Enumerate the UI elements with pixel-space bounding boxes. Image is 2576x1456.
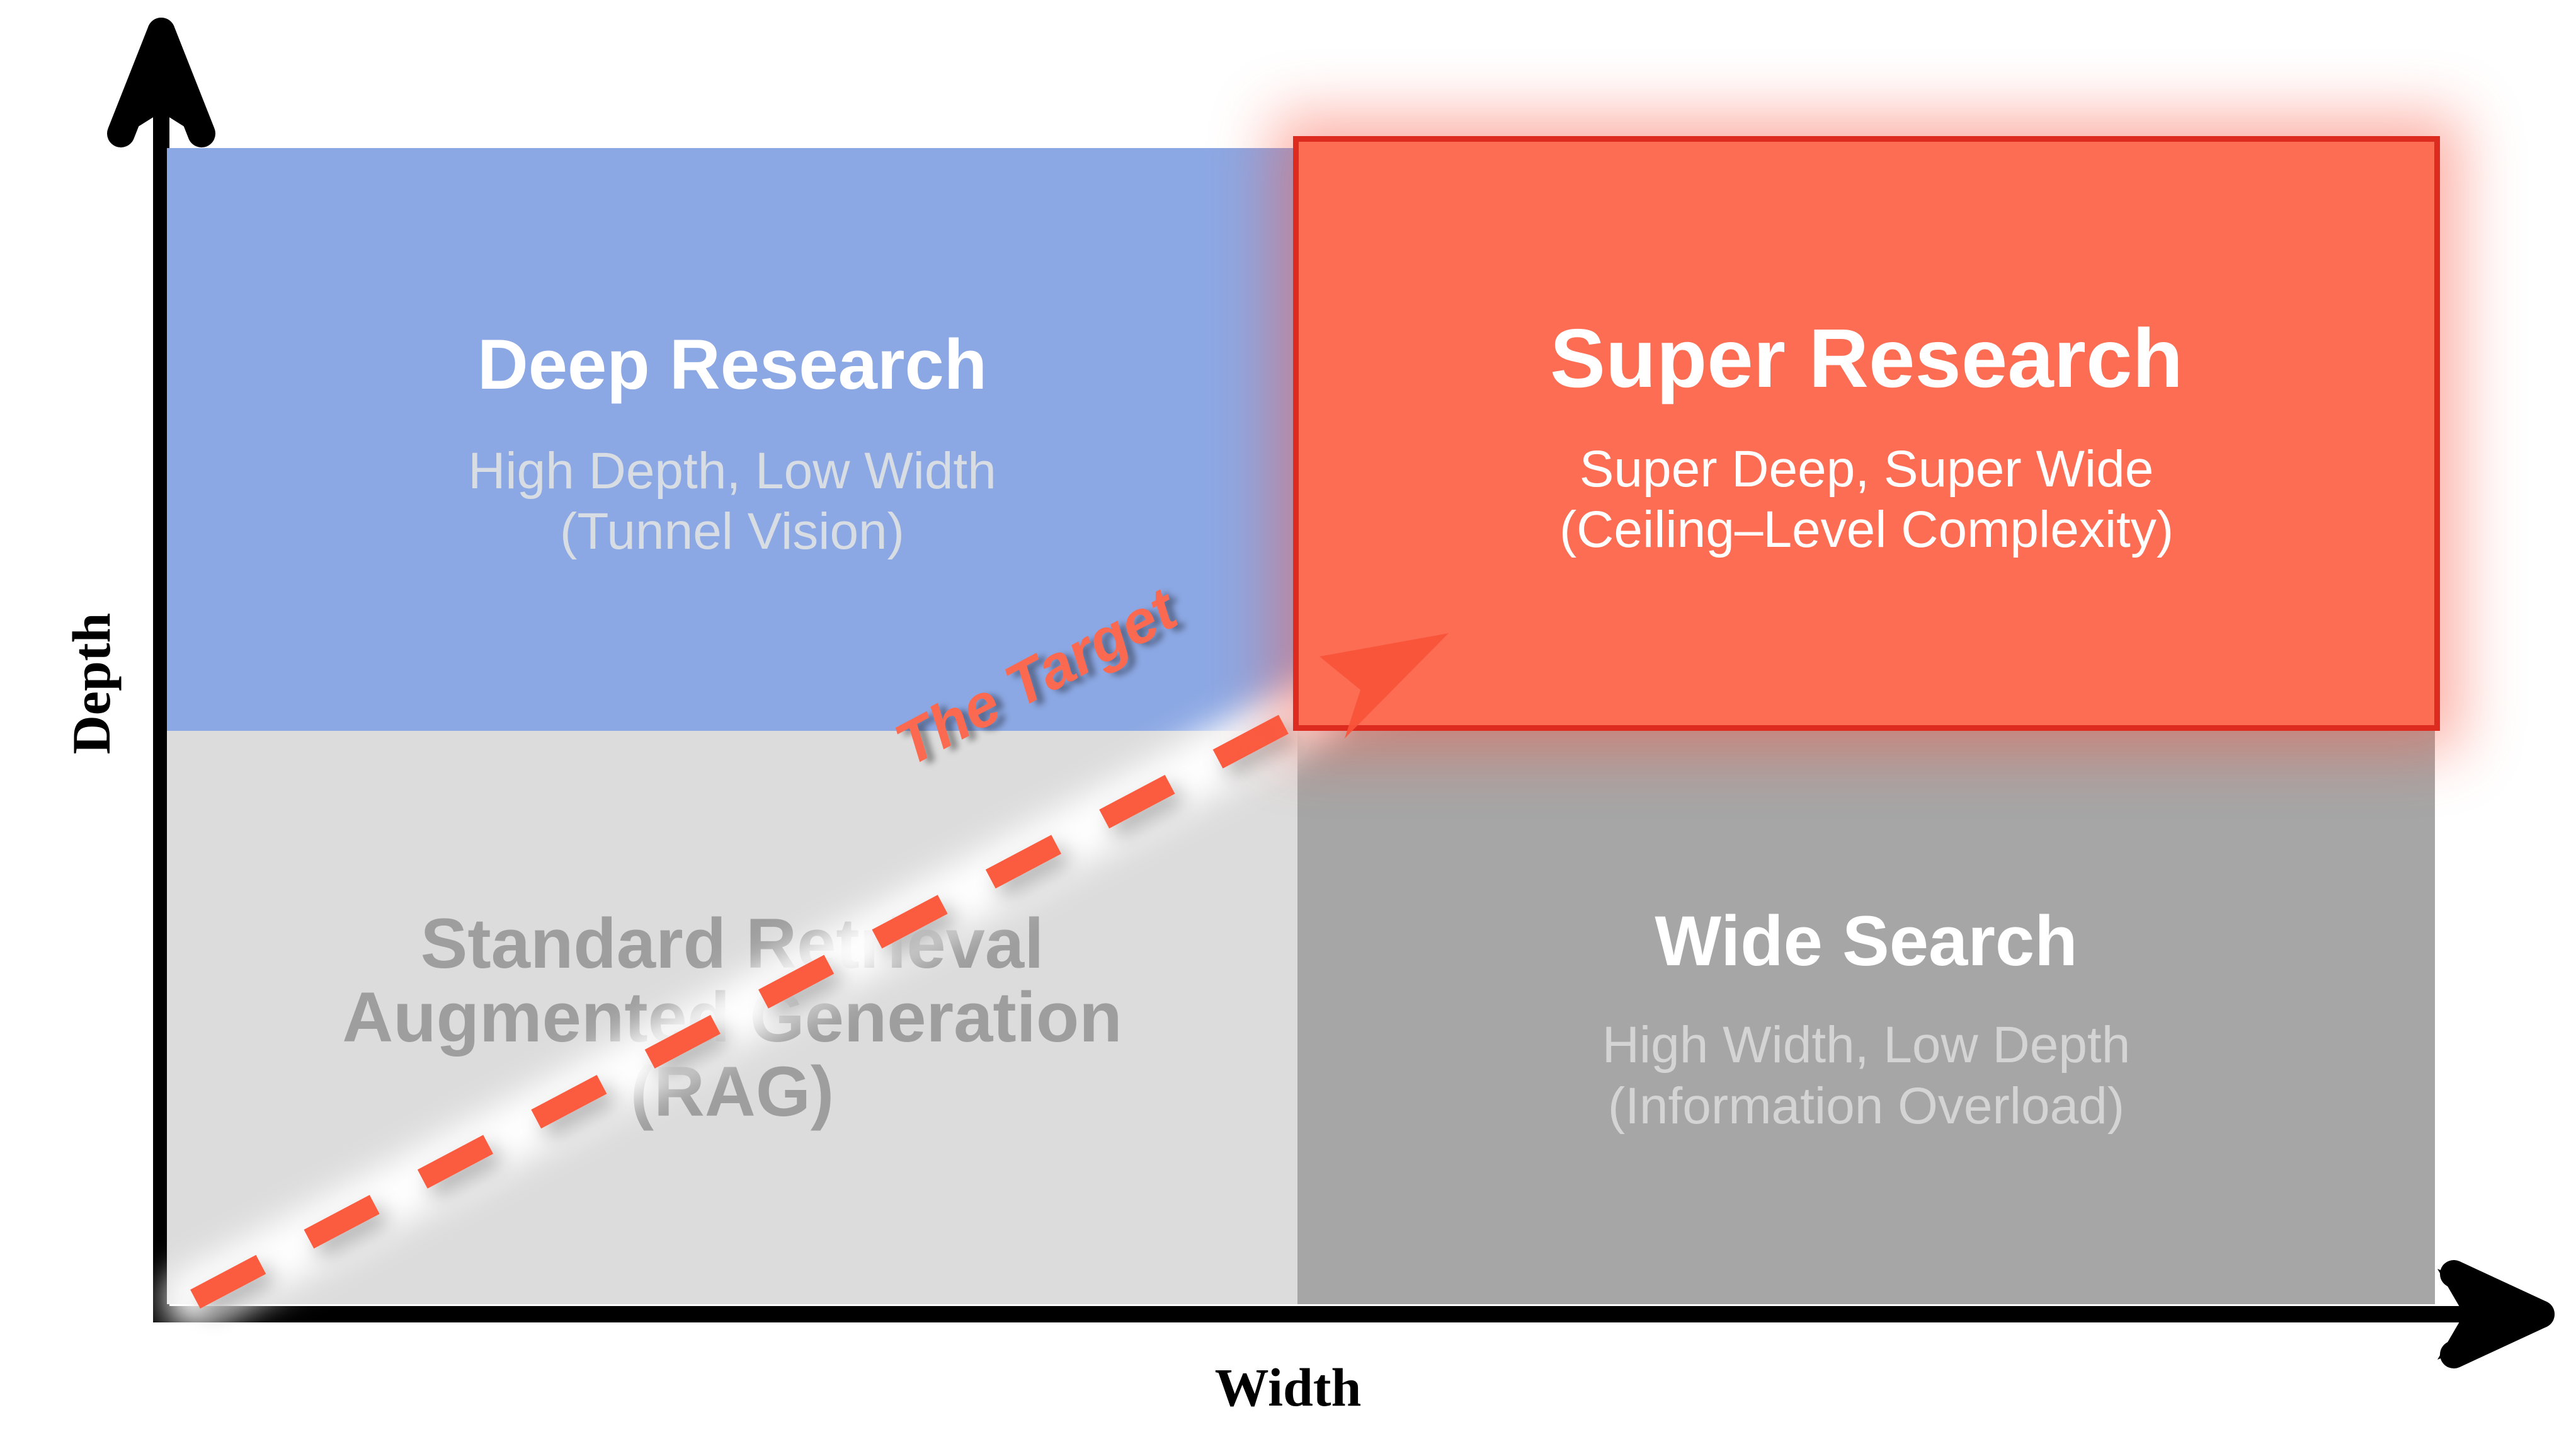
- quadrant-title: Wide Search: [1655, 904, 2077, 978]
- quadrant-title: Standard Retrieval Augmented Generation …: [260, 907, 1205, 1129]
- quadrant-title: Super Research: [1550, 315, 2183, 403]
- quadrant-subtitle: High Width, Low Depth (Information Overl…: [1602, 1015, 2131, 1137]
- quadrant-standard-rag[interactable]: Standard Retrieval Augmented Generation …: [167, 731, 1297, 1304]
- y-axis-label: Depth: [60, 558, 123, 810]
- quadrant-wide-search[interactable]: Wide Search High Width, Low Depth (Infor…: [1297, 731, 2435, 1304]
- quadrant-subtitle-line2: (Tunnel Vision): [468, 502, 996, 563]
- quadrant-subtitle: Super Deep, Super Wide (Ceiling–Level Co…: [1559, 439, 2174, 561]
- arrow-right-icon: [2437, 1269, 2552, 1360]
- quadrant-title: Deep Research: [477, 328, 987, 402]
- quadrant-subtitle-line1: Super Deep, Super Wide: [1559, 439, 2174, 500]
- quadrant-subtitle-line1: High Width, Low Depth: [1602, 1015, 2131, 1076]
- quadrant-super-research[interactable]: Super Research Super Deep, Super Wide (C…: [1293, 136, 2440, 731]
- x-axis-label: Width: [1086, 1356, 1490, 1419]
- arrow-up-icon: [117, 20, 205, 140]
- quadrant-subtitle: High Depth, Low Width (Tunnel Vision): [468, 441, 996, 563]
- quadrant-subtitle-line2: (Information Overload): [1602, 1076, 2131, 1137]
- quadrant-subtitle-line1: High Depth, Low Width: [468, 441, 996, 502]
- quadrant-subtitle-line2: (Ceiling–Level Complexity): [1559, 500, 2174, 561]
- quadrant-diagram: Depth Width Deep Research High Depth, Lo…: [0, 0, 2576, 1456]
